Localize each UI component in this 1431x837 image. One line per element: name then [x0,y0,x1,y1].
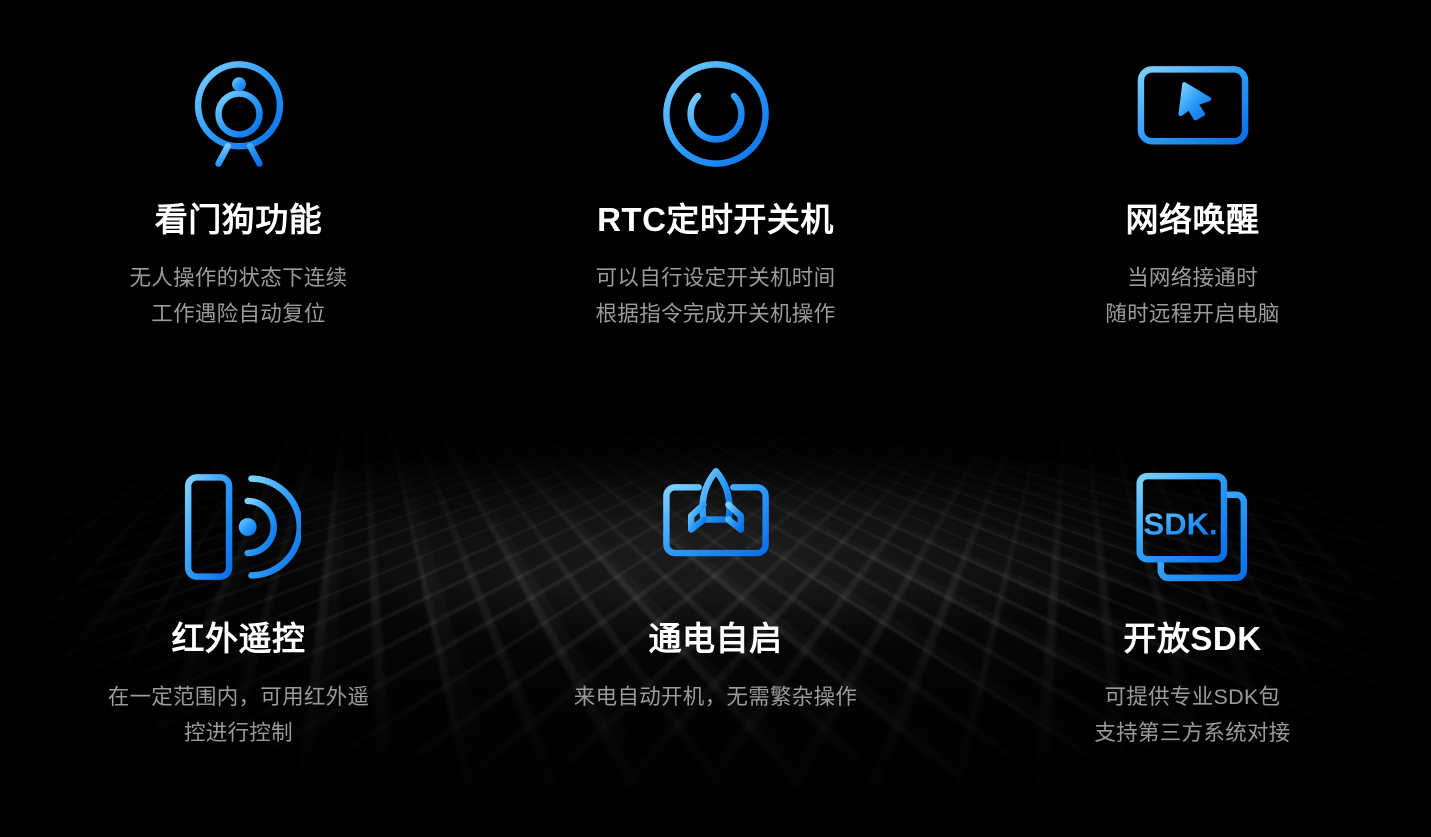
feature-description: 可提供专业SDK包 支持第三方系统对接 [1094,679,1290,751]
feature-description-line: 控进行控制 [108,715,370,751]
feature-title: 通电自启 [649,621,783,657]
feature-description: 无人操作的状态下连续 工作遇险自动复位 [129,260,347,332]
feature-description-line: 可提供专业SDK包 [1094,679,1290,715]
monitor-cursor-icon [1131,52,1255,176]
feature-description: 当网络接通时 随时远程开启电脑 [1105,260,1279,332]
feature-title: 开放SDK [1123,621,1261,657]
feature-card-auto-power-on: 通电自启 来电自动开机，无需繁杂操作 [477,421,954,837]
sdk-icon-label: SDK. [1143,506,1217,541]
feature-title: 网络唤醒 [1126,202,1260,238]
feature-description-line: 在一定范围内，可用红外遥 [108,679,370,715]
feature-card-watchdog: 看门狗功能 无人操作的状态下连续 工作遇险自动复位 [0,0,477,421]
feature-description-line: 根据指令完成开关机操作 [596,296,836,332]
sdk-windows-icon: SDK. [1131,465,1255,589]
feature-card-open-sdk: SDK. 开放SDK 可提供专业SDK包 支持第三方系统对接 [954,421,1431,837]
power-button-icon [654,52,778,176]
feature-description-line: 来电自动开机，无需繁杂操作 [574,679,857,715]
feature-card-wake-on-lan: 网络唤醒 当网络接通时 随时远程开启电脑 [954,0,1431,421]
feature-description-line: 可以自行设定开关机时间 [596,260,836,296]
monitor-rocket-icon [654,465,778,589]
feature-grid: 看门狗功能 无人操作的状态下连续 工作遇险自动复位 [0,0,1431,837]
feature-description-line: 当网络接通时 [1105,260,1279,296]
feature-title: 看门狗功能 [155,202,323,238]
feature-description-line: 随时远程开启电脑 [1105,296,1279,332]
feature-card-infrared-remote: 红外遥控 在一定范围内，可用红外遥 控进行控制 [0,421,477,837]
feature-description-line: 工作遇险自动复位 [129,296,347,332]
feature-title: 红外遥控 [172,621,306,657]
feature-description: 可以自行设定开关机时间 根据指令完成开关机操作 [596,260,836,332]
feature-card-rtc-timer: RTC定时开关机 可以自行设定开关机时间 根据指令完成开关机操作 [477,0,954,421]
feature-description: 来电自动开机，无需繁杂操作 [574,679,857,715]
feature-title: RTC定时开关机 [597,202,834,238]
feature-description: 在一定范围内，可用红外遥 控进行控制 [108,679,370,751]
feature-description-line: 无人操作的状态下连续 [129,260,347,296]
feature-description-line: 支持第三方系统对接 [1094,715,1290,751]
webcam-icon [177,52,301,176]
remote-signal-icon [177,465,301,589]
